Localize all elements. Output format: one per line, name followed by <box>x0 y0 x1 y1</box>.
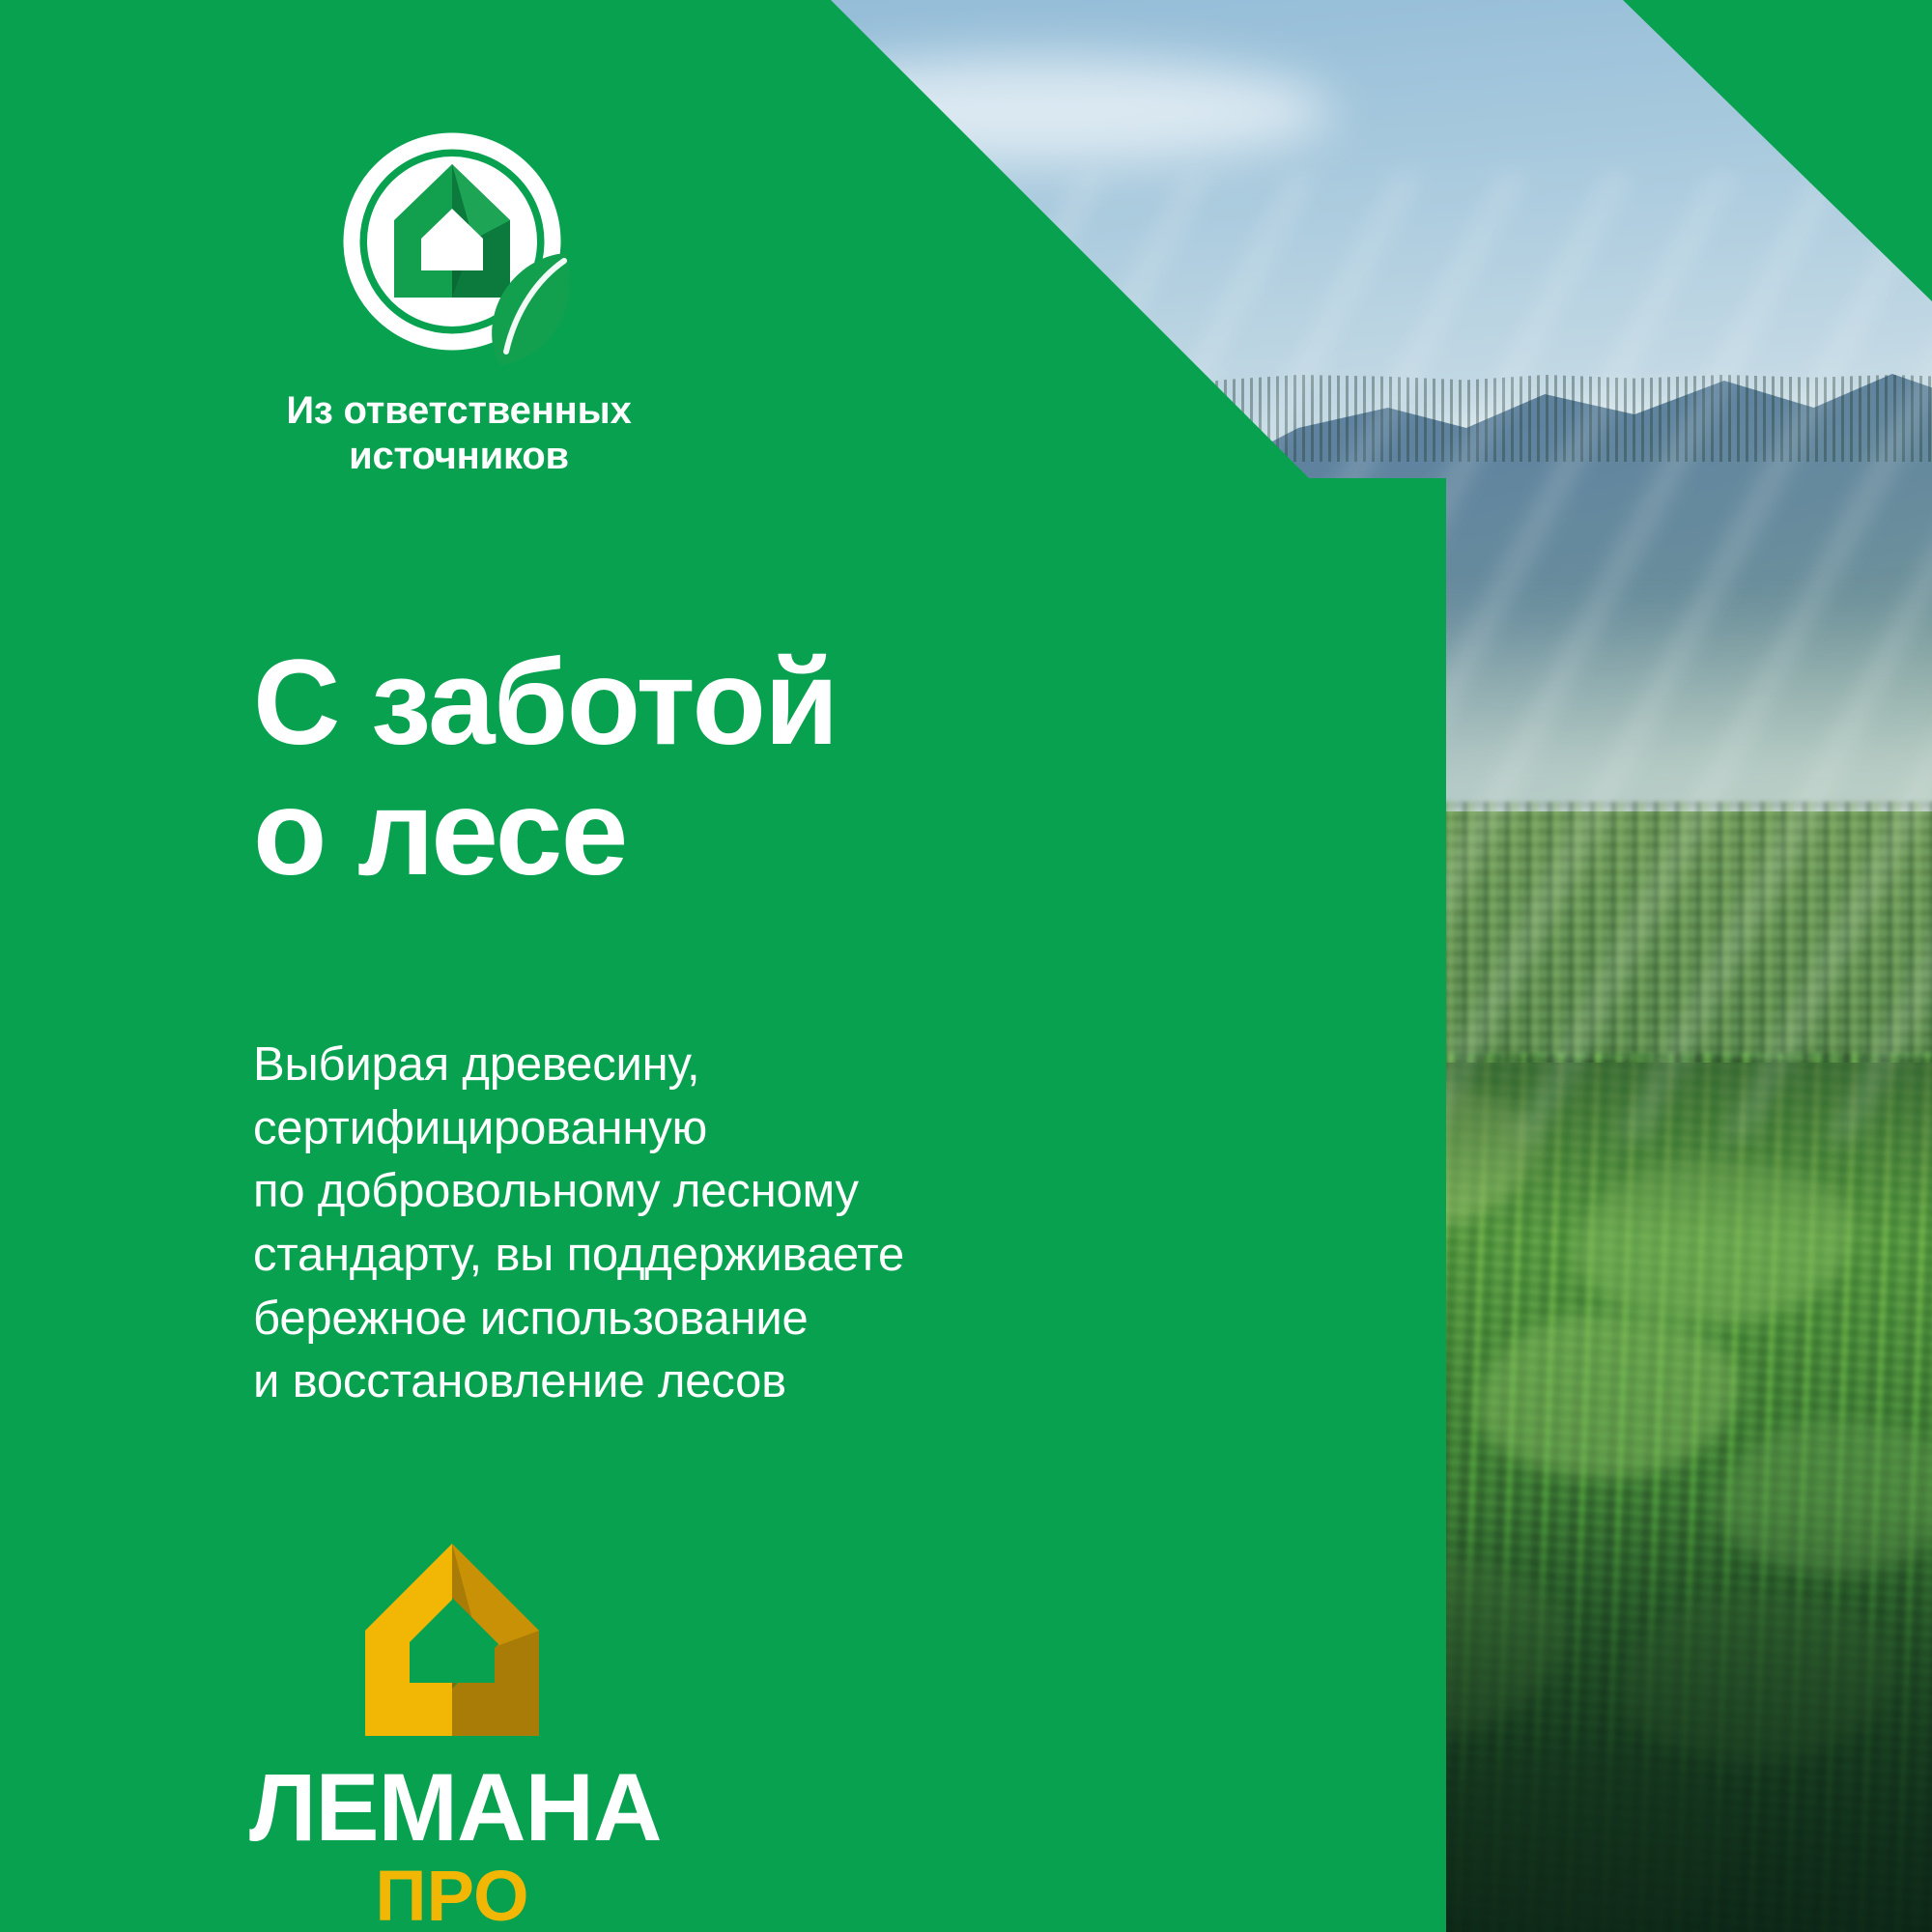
body-paragraph: Выбирая древесину, сертифицированную по … <box>253 1034 904 1414</box>
page-title: С заботой о лесе <box>253 638 838 898</box>
brand-lockup: ЛЕМАНА ПРО <box>249 1536 655 1932</box>
brand-name: ЛЕМАНА <box>249 1759 655 1855</box>
responsible-sources-badge: Из ответственных источников <box>256 126 662 479</box>
brand-subtitle: ПРО <box>249 1861 655 1932</box>
poster-content: Из ответственных источников С заботой о … <box>0 0 1446 1932</box>
house-leaf-circle-logo <box>328 126 589 367</box>
lemana-house-logo <box>357 1536 547 1744</box>
poster: Из ответственных источников С заботой о … <box>0 0 1932 1932</box>
badge-label: Из ответственных источников <box>256 388 662 479</box>
